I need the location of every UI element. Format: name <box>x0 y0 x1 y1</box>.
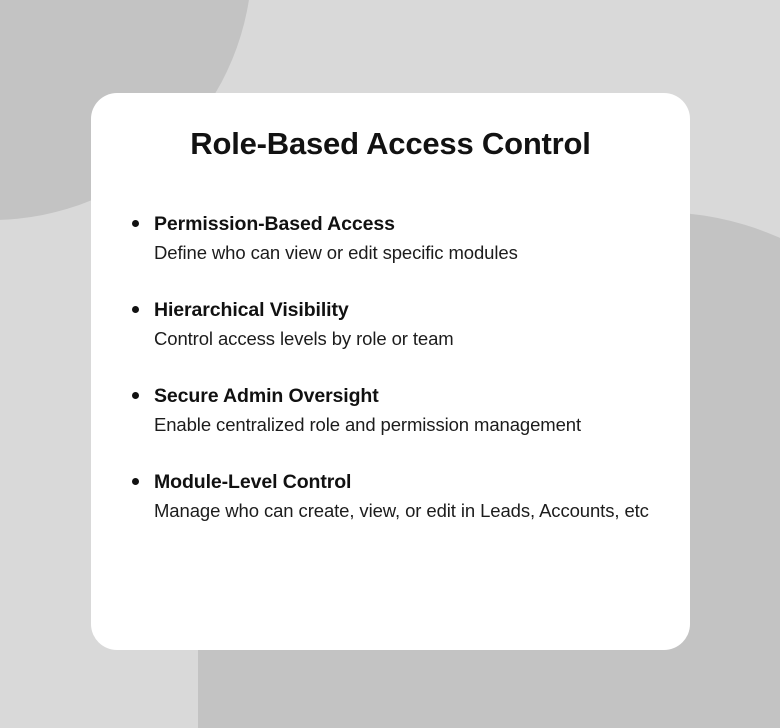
feature-description: Manage who can create, view, or edit in … <box>154 497 674 526</box>
feature-title: Secure Admin Oversight <box>154 382 676 411</box>
feature-description: Define who can view or edit specific mod… <box>154 239 674 268</box>
feature-description: Enable centralized role and permission m… <box>154 411 674 440</box>
feature-list: Permission-Based Access Define who can v… <box>126 210 676 526</box>
feature-title: Module-Level Control <box>154 468 676 497</box>
feature-title: Permission-Based Access <box>154 210 676 239</box>
bullet-dot-icon <box>132 478 139 485</box>
content-card: Role-Based Access Control Permission-Bas… <box>91 93 690 650</box>
feature-title: Hierarchical Visibility <box>154 296 676 325</box>
feature-description: Control access levels by role or team <box>154 325 674 354</box>
bullet-dot-icon <box>132 392 139 399</box>
list-item: Hierarchical Visibility Control access l… <box>126 296 676 354</box>
bullet-dot-icon <box>132 220 139 227</box>
page-title: Role-Based Access Control <box>91 125 690 164</box>
bullet-dot-icon <box>132 306 139 313</box>
list-item: Secure Admin Oversight Enable centralize… <box>126 382 676 440</box>
slide-canvas: Role-Based Access Control Permission-Bas… <box>0 0 780 728</box>
list-item: Permission-Based Access Define who can v… <box>126 210 676 268</box>
list-item: Module-Level Control Manage who can crea… <box>126 468 676 526</box>
